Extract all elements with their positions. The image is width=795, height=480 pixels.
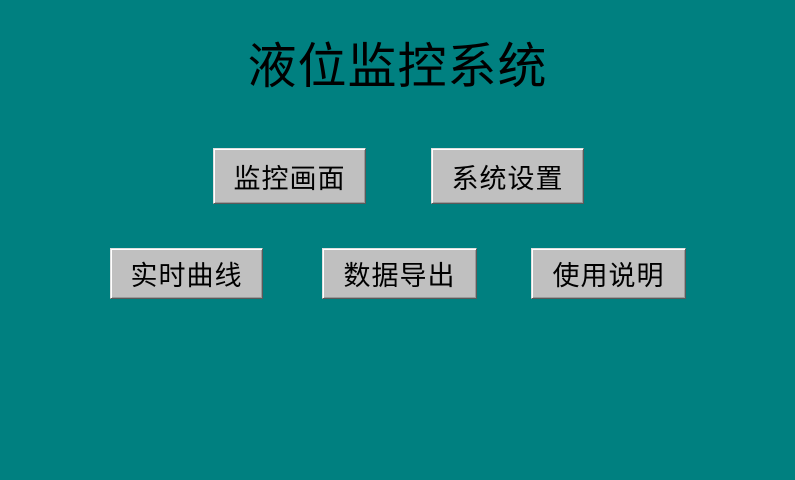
system-settings-button-label: 系统设置 (452, 157, 564, 196)
monitoring-screen-button[interactable]: 监控画面 (213, 148, 366, 204)
application-window: 液位监控系统 监控画面 系统设置 实时曲线 数据导出 使用说明 (0, 0, 795, 480)
data-export-button-label: 数据导出 (344, 254, 456, 293)
page-title: 液位监控系统 (0, 38, 795, 96)
instructions-button[interactable]: 使用说明 (531, 248, 686, 299)
realtime-curve-button-label: 实时曲线 (131, 254, 243, 293)
instructions-button-label: 使用说明 (553, 254, 665, 293)
system-settings-button[interactable]: 系统设置 (431, 148, 584, 204)
data-export-button[interactable]: 数据导出 (322, 248, 477, 299)
realtime-curve-button[interactable]: 实时曲线 (110, 248, 263, 299)
monitoring-screen-button-label: 监控画面 (234, 157, 346, 196)
